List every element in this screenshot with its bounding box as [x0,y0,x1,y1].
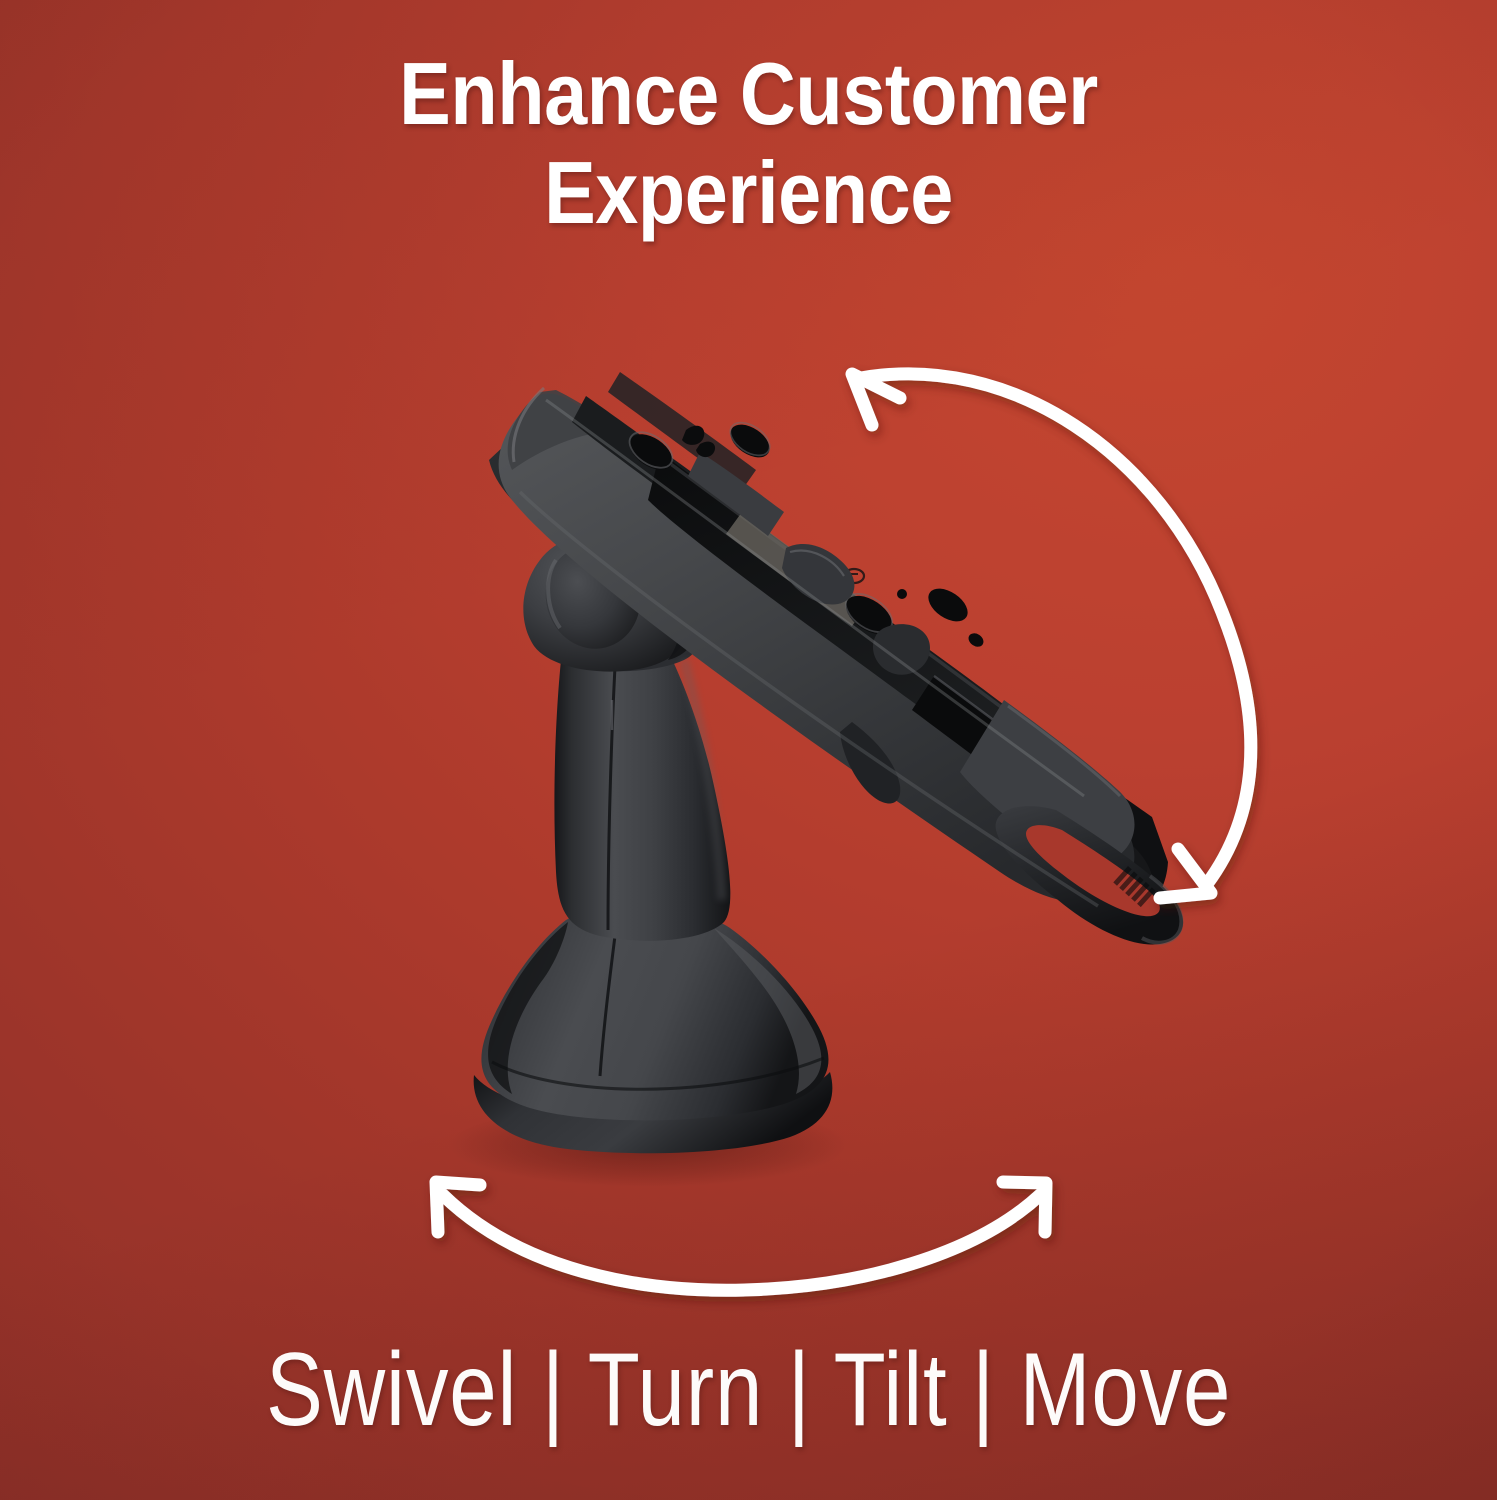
tapered-column [554,626,730,941]
headline: Enhance Customer Experience [90,44,1407,243]
product-feature-image: Enhance Customer Experience Swivel | Tur… [0,0,1497,1500]
tagline-container: Swivel | Turn | Tilt | Move [0,1338,1497,1442]
swivel-arc-arrow [436,1182,1046,1290]
headline-line-1: Enhance Customer [399,44,1098,143]
screw-hole-lower-right [922,582,973,628]
pin-hole-small-c [897,589,907,599]
flared-base [474,908,833,1153]
pin-hole-small-b [966,631,986,650]
tilt-arrowhead-top [852,374,900,425]
swivel-arc-path [443,1195,1040,1290]
column-body [554,627,730,940]
tagline: Swivel | Turn | Tilt | Move [266,1338,1231,1442]
headline-line-2: Experience [90,143,1407,242]
